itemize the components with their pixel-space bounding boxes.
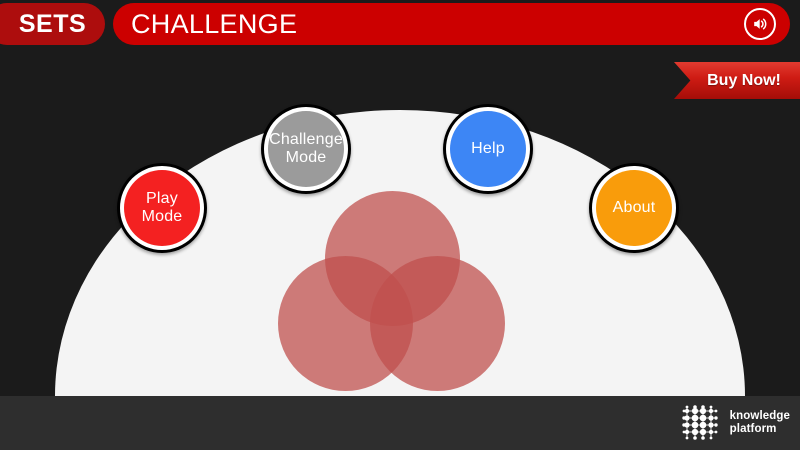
brand-logo: knowledge platform (678, 402, 790, 444)
help-button[interactable]: Help (443, 104, 533, 194)
page-title: CHALLENGE (131, 3, 297, 45)
sets-logo-label: SETS (0, 3, 105, 45)
brand-line-2: platform (730, 423, 790, 436)
venn-circle-right (370, 256, 505, 391)
button-ring: Play Mode (120, 166, 204, 250)
buy-now-label: Buy Now! (674, 62, 800, 99)
top-header-bar: SETS CHALLENGE (0, 0, 800, 50)
challenge-mode-button[interactable]: Challenge Mode (261, 104, 351, 194)
button-ring: Help (446, 107, 530, 191)
footer-bar: knowledge platform (0, 396, 800, 450)
help-label: Help (471, 140, 505, 158)
brand-wordmark: knowledge platform (730, 410, 790, 436)
play-mode-label-line1: Play (146, 190, 178, 207)
sets-logo-pill[interactable]: SETS (0, 3, 105, 45)
button-face: Play Mode (124, 170, 200, 246)
about-button[interactable]: About (589, 163, 679, 253)
buy-now-button[interactable]: Buy Now! (674, 62, 800, 99)
sound-toggle-button[interactable] (744, 8, 776, 40)
about-label: About (613, 199, 656, 217)
speaker-volume-icon (751, 15, 769, 33)
brand-line-1: knowledge (730, 410, 790, 423)
app-screen: Play Mode Challenge Mode Help Abou (0, 0, 800, 450)
button-face: About (596, 170, 672, 246)
play-mode-button[interactable]: Play Mode (117, 163, 207, 253)
screen-title-bar: CHALLENGE (113, 3, 790, 45)
challenge-mode-label-line1: Challenge (269, 131, 343, 148)
button-ring: Challenge Mode (264, 107, 348, 191)
play-mode-label-line2: Mode (142, 208, 183, 225)
dot-matrix-logo-icon (678, 404, 722, 442)
button-face: Help (450, 111, 526, 187)
button-face: Challenge Mode (268, 111, 344, 187)
button-ring: About (592, 166, 676, 250)
challenge-mode-label-line2: Mode (286, 149, 327, 166)
